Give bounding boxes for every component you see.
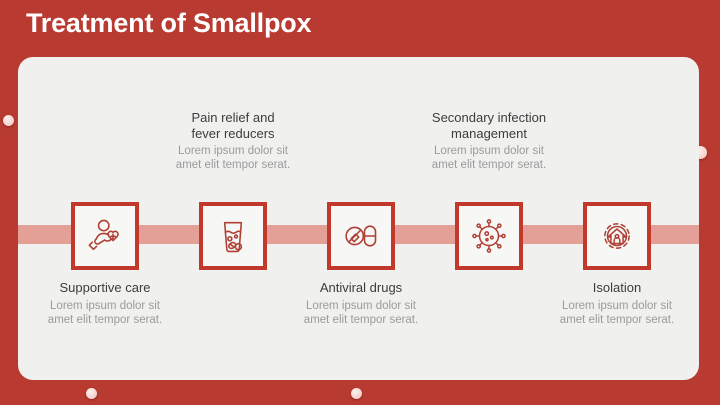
content-panel: Supportive care Lorem ipsum dolor sit am… xyxy=(18,57,699,380)
icon-box-secondary-infection[interactable] xyxy=(455,202,523,270)
icon-box-isolation[interactable] xyxy=(583,202,651,270)
glass-with-pills-icon xyxy=(213,216,253,256)
step-title: Pain relief and fever reducers xyxy=(133,110,333,141)
decorative-dot-left xyxy=(3,115,14,126)
label-supportive-care: Supportive care Lorem ipsum dolor sit am… xyxy=(18,280,205,327)
step-title: Secondary infection management xyxy=(389,110,589,141)
page-title: Treatment of Smallpox xyxy=(26,8,311,39)
slide-root: Treatment of Smallpox xyxy=(0,0,720,405)
label-secondary-infection: Secondary infection management Lorem ips… xyxy=(389,110,589,172)
step-secondary-infection[interactable]: Secondary infection management Lorem ips… xyxy=(455,202,523,270)
tablet-and-capsule-icon xyxy=(341,216,381,256)
step-isolation[interactable]: Isolation Lorem ipsum dolor sit amet eli… xyxy=(583,202,651,270)
icon-box-antiviral-drugs[interactable] xyxy=(327,202,395,270)
decorative-dot-bottom-left xyxy=(86,388,97,399)
step-pain-relief[interactable]: Pain relief and fever reducers Lorem ips… xyxy=(199,202,267,270)
house-quarantine-icon xyxy=(597,216,637,256)
label-antiviral-drugs: Antiviral drugs Lorem ipsum dolor sit am… xyxy=(261,280,461,327)
label-pain-relief: Pain relief and fever reducers Lorem ips… xyxy=(133,110,333,172)
icon-box-supportive-care[interactable] xyxy=(71,202,139,270)
step-supportive-care[interactable]: Supportive care Lorem ipsum dolor sit am… xyxy=(71,202,139,270)
step-antiviral-drugs[interactable]: Antiviral drugs Lorem ipsum dolor sit am… xyxy=(327,202,395,270)
step-description: Lorem ipsum dolor sit amet elit tempor s… xyxy=(389,144,589,172)
step-title: Supportive care xyxy=(18,280,205,296)
label-isolation: Isolation Lorem ipsum dolor sit amet eli… xyxy=(517,280,699,327)
decorative-dot-bottom-center xyxy=(351,388,362,399)
icon-box-pain-relief[interactable] xyxy=(199,202,267,270)
step-description: Lorem ipsum dolor sit amet elit tempor s… xyxy=(133,144,333,172)
step-description: Lorem ipsum dolor sit amet elit tempor s… xyxy=(18,299,205,327)
step-title: Isolation xyxy=(517,280,699,296)
virus-icon xyxy=(469,216,509,256)
step-description: Lorem ipsum dolor sit amet elit tempor s… xyxy=(517,299,699,327)
step-title: Antiviral drugs xyxy=(261,280,461,296)
hand-holding-patient-heart-icon xyxy=(85,216,125,256)
step-description: Lorem ipsum dolor sit amet elit tempor s… xyxy=(261,299,461,327)
